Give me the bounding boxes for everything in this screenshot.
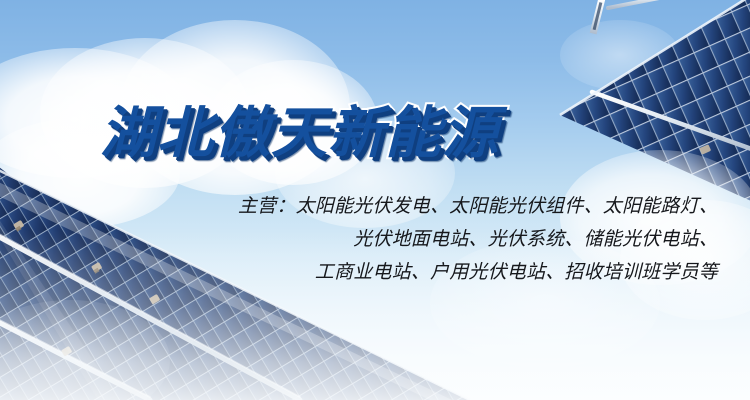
headline-block: 湖北傲天新能源 xyxy=(0,104,750,164)
business-scope-line-3: 工商业电站、户用光伏电站、招收培训班学员等 xyxy=(0,256,718,289)
business-scope-line-1: 主营：太阳能光伏发电、太阳能光伏组件、太阳能路灯、 xyxy=(0,190,718,223)
business-scope-block: 主营：太阳能光伏发电、太阳能光伏组件、太阳能路灯、 光伏地面电站、光伏系统、储能… xyxy=(0,190,750,289)
company-title: 湖北傲天新能源 xyxy=(100,104,499,164)
business-scope-line-2: 光伏地面电站、光伏系统、储能光伏电站、 xyxy=(0,223,718,256)
solar-company-banner: 湖北傲天新能源 主营：太阳能光伏发电、太阳能光伏组件、太阳能路灯、 光伏地面电站… xyxy=(0,0,750,400)
